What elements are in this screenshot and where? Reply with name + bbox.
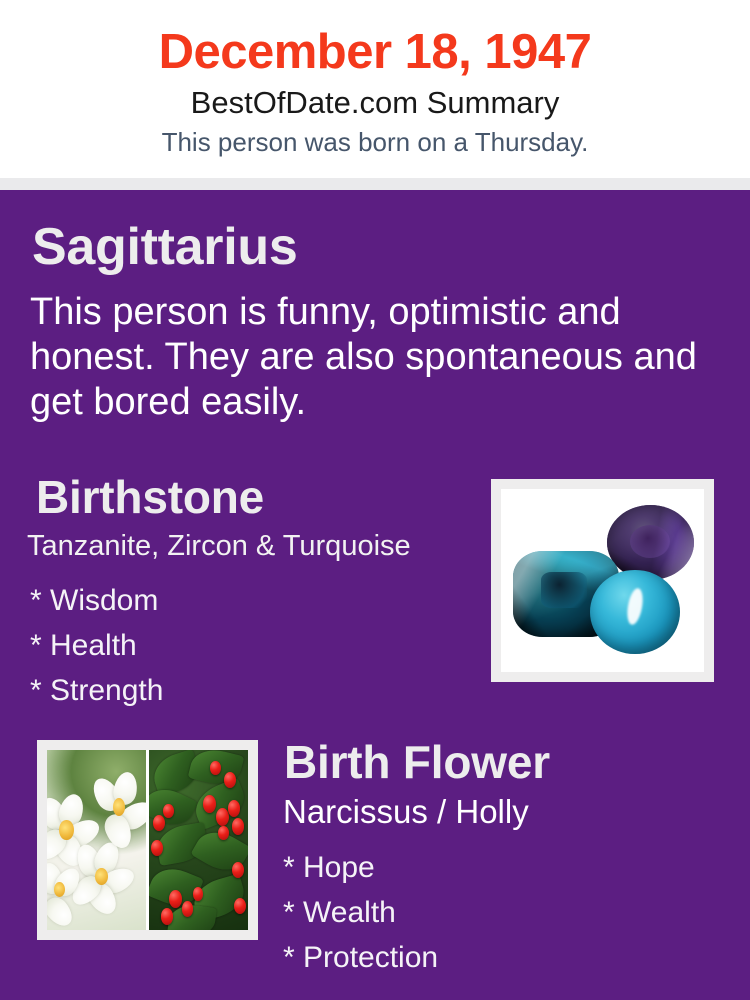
birth-flower-names: Narcissus / Holly xyxy=(283,792,529,832)
list-item: * Health xyxy=(30,623,163,668)
card-header: December 18, 1947 BestOfDate.com Summary… xyxy=(0,0,750,178)
gem-canvas xyxy=(501,489,704,672)
birthstone-photo-frame xyxy=(491,479,714,682)
list-item: * Protection xyxy=(283,935,438,980)
site-summary-label: BestOfDate.com Summary xyxy=(0,82,750,124)
zodiac-sign-heading: Sagittarius xyxy=(32,218,297,276)
birthstone-photo xyxy=(501,489,704,672)
summary-card: December 18, 1947 BestOfDate.com Summary… xyxy=(0,0,750,1000)
birthstone-names: Tanzanite, Zircon & Turquoise xyxy=(27,528,411,564)
birth-flower-section: Birth Flower Narcissus / Holly * Hope * … xyxy=(0,735,750,985)
zodiac-description: This person is funny, optimistic and hon… xyxy=(30,290,730,425)
page-title: December 18, 1947 xyxy=(0,22,750,82)
turquoise-gem-icon xyxy=(590,570,679,654)
birth-flower-heading: Birth Flower xyxy=(284,735,550,789)
list-item: * Strength xyxy=(30,668,163,713)
birthstone-trait-list: * Wisdom * Health * Strength xyxy=(30,578,163,713)
list-item: * Wealth xyxy=(283,890,438,935)
birthstone-heading: Birthstone xyxy=(36,470,264,524)
born-weekday-text: This person was born on a Thursday. xyxy=(0,124,750,160)
tanzanite-gem-icon xyxy=(607,505,694,580)
header-divider xyxy=(0,178,750,190)
birth-flower-trait-list: * Hope * Wealth * Protection xyxy=(283,845,438,980)
list-item: * Wisdom xyxy=(30,578,163,623)
list-item: * Hope xyxy=(283,845,438,890)
